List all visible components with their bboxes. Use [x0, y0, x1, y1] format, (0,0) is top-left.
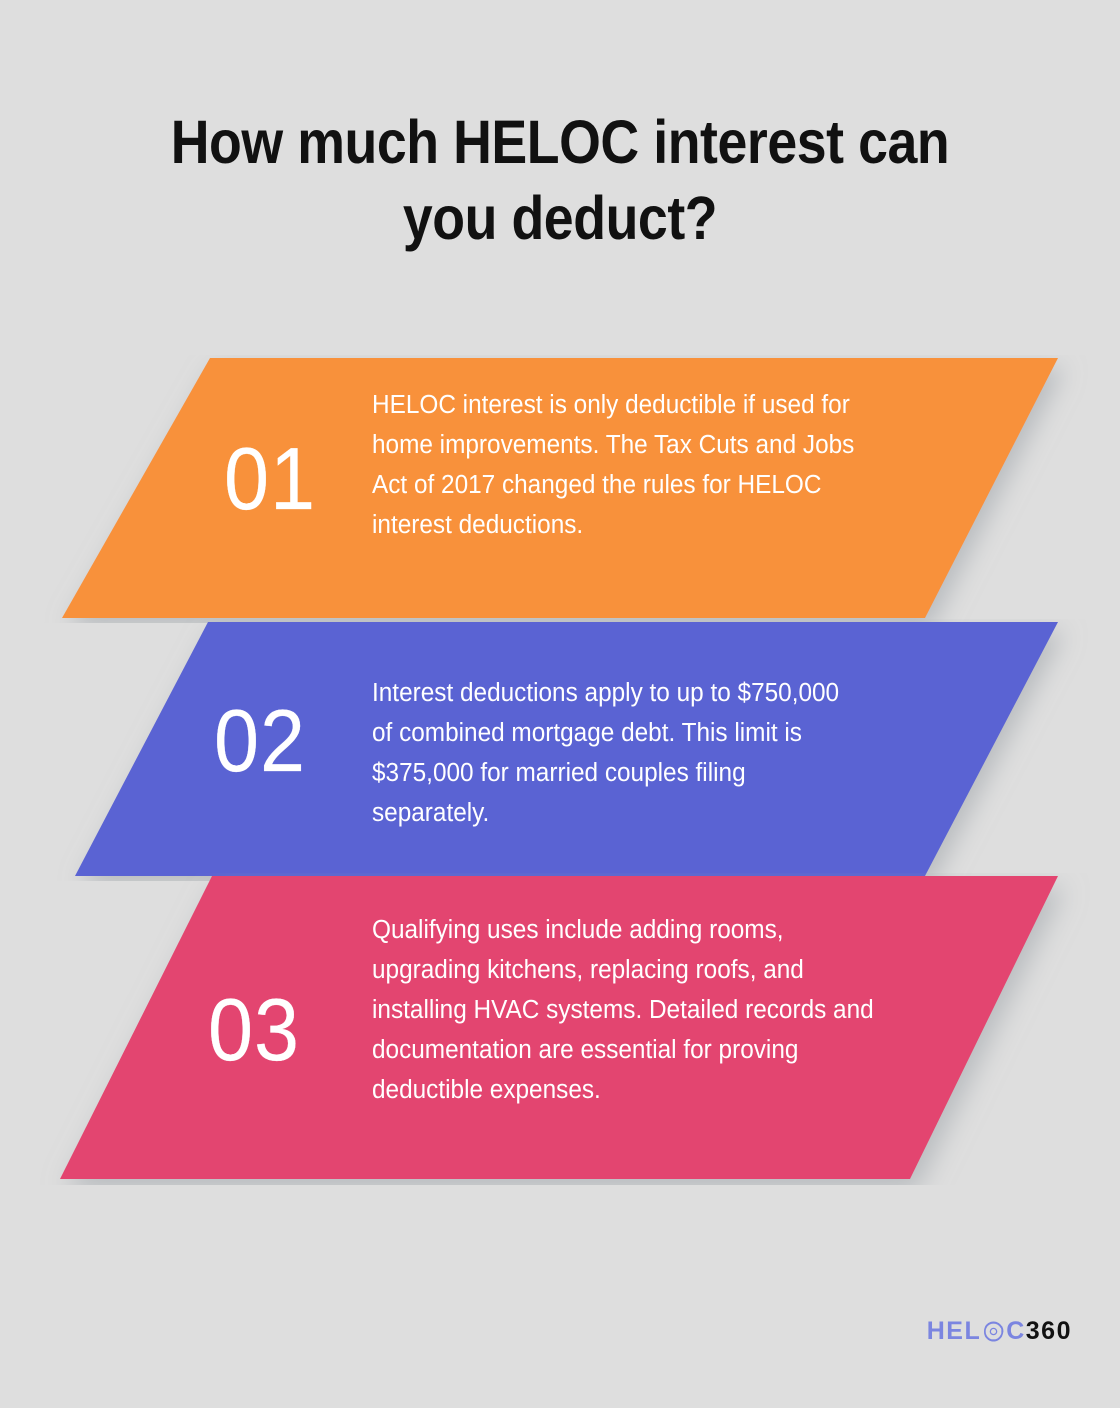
banner-number-03: 03: [208, 986, 300, 1074]
banner-item-01: 01 HELOC interest is only deductible if …: [0, 355, 1120, 623]
brand-logo: HEL C 360: [927, 1316, 1072, 1346]
banner-item-02: 02 Interest deductions apply to up to $7…: [0, 619, 1120, 881]
banner-list: 01 HELOC interest is only deductible if …: [0, 355, 1120, 1185]
page-title-line-1: How much HELOC interest can: [129, 104, 991, 180]
logo-text-360: 360: [1026, 1319, 1072, 1344]
banner-text-02: Interest deductions apply to up to $750,…: [372, 673, 850, 833]
banner-text-03: Qualifying uses include adding rooms, up…: [372, 910, 888, 1110]
page-title: How much HELOC interest can you deduct?: [70, 104, 1050, 256]
logo-text-c: C: [1006, 1319, 1026, 1344]
swirl-o-icon: [982, 1320, 1005, 1343]
banner-text-01: HELOC interest is only deductible if use…: [372, 385, 892, 545]
logo-text-hel: HEL: [927, 1319, 982, 1344]
page-title-line-2: you deduct?: [129, 180, 991, 256]
banner-number-02: 02: [214, 697, 306, 785]
banner-number-01: 01: [224, 435, 316, 523]
banner-item-03: 03 Qualifying uses include adding rooms,…: [0, 873, 1120, 1185]
